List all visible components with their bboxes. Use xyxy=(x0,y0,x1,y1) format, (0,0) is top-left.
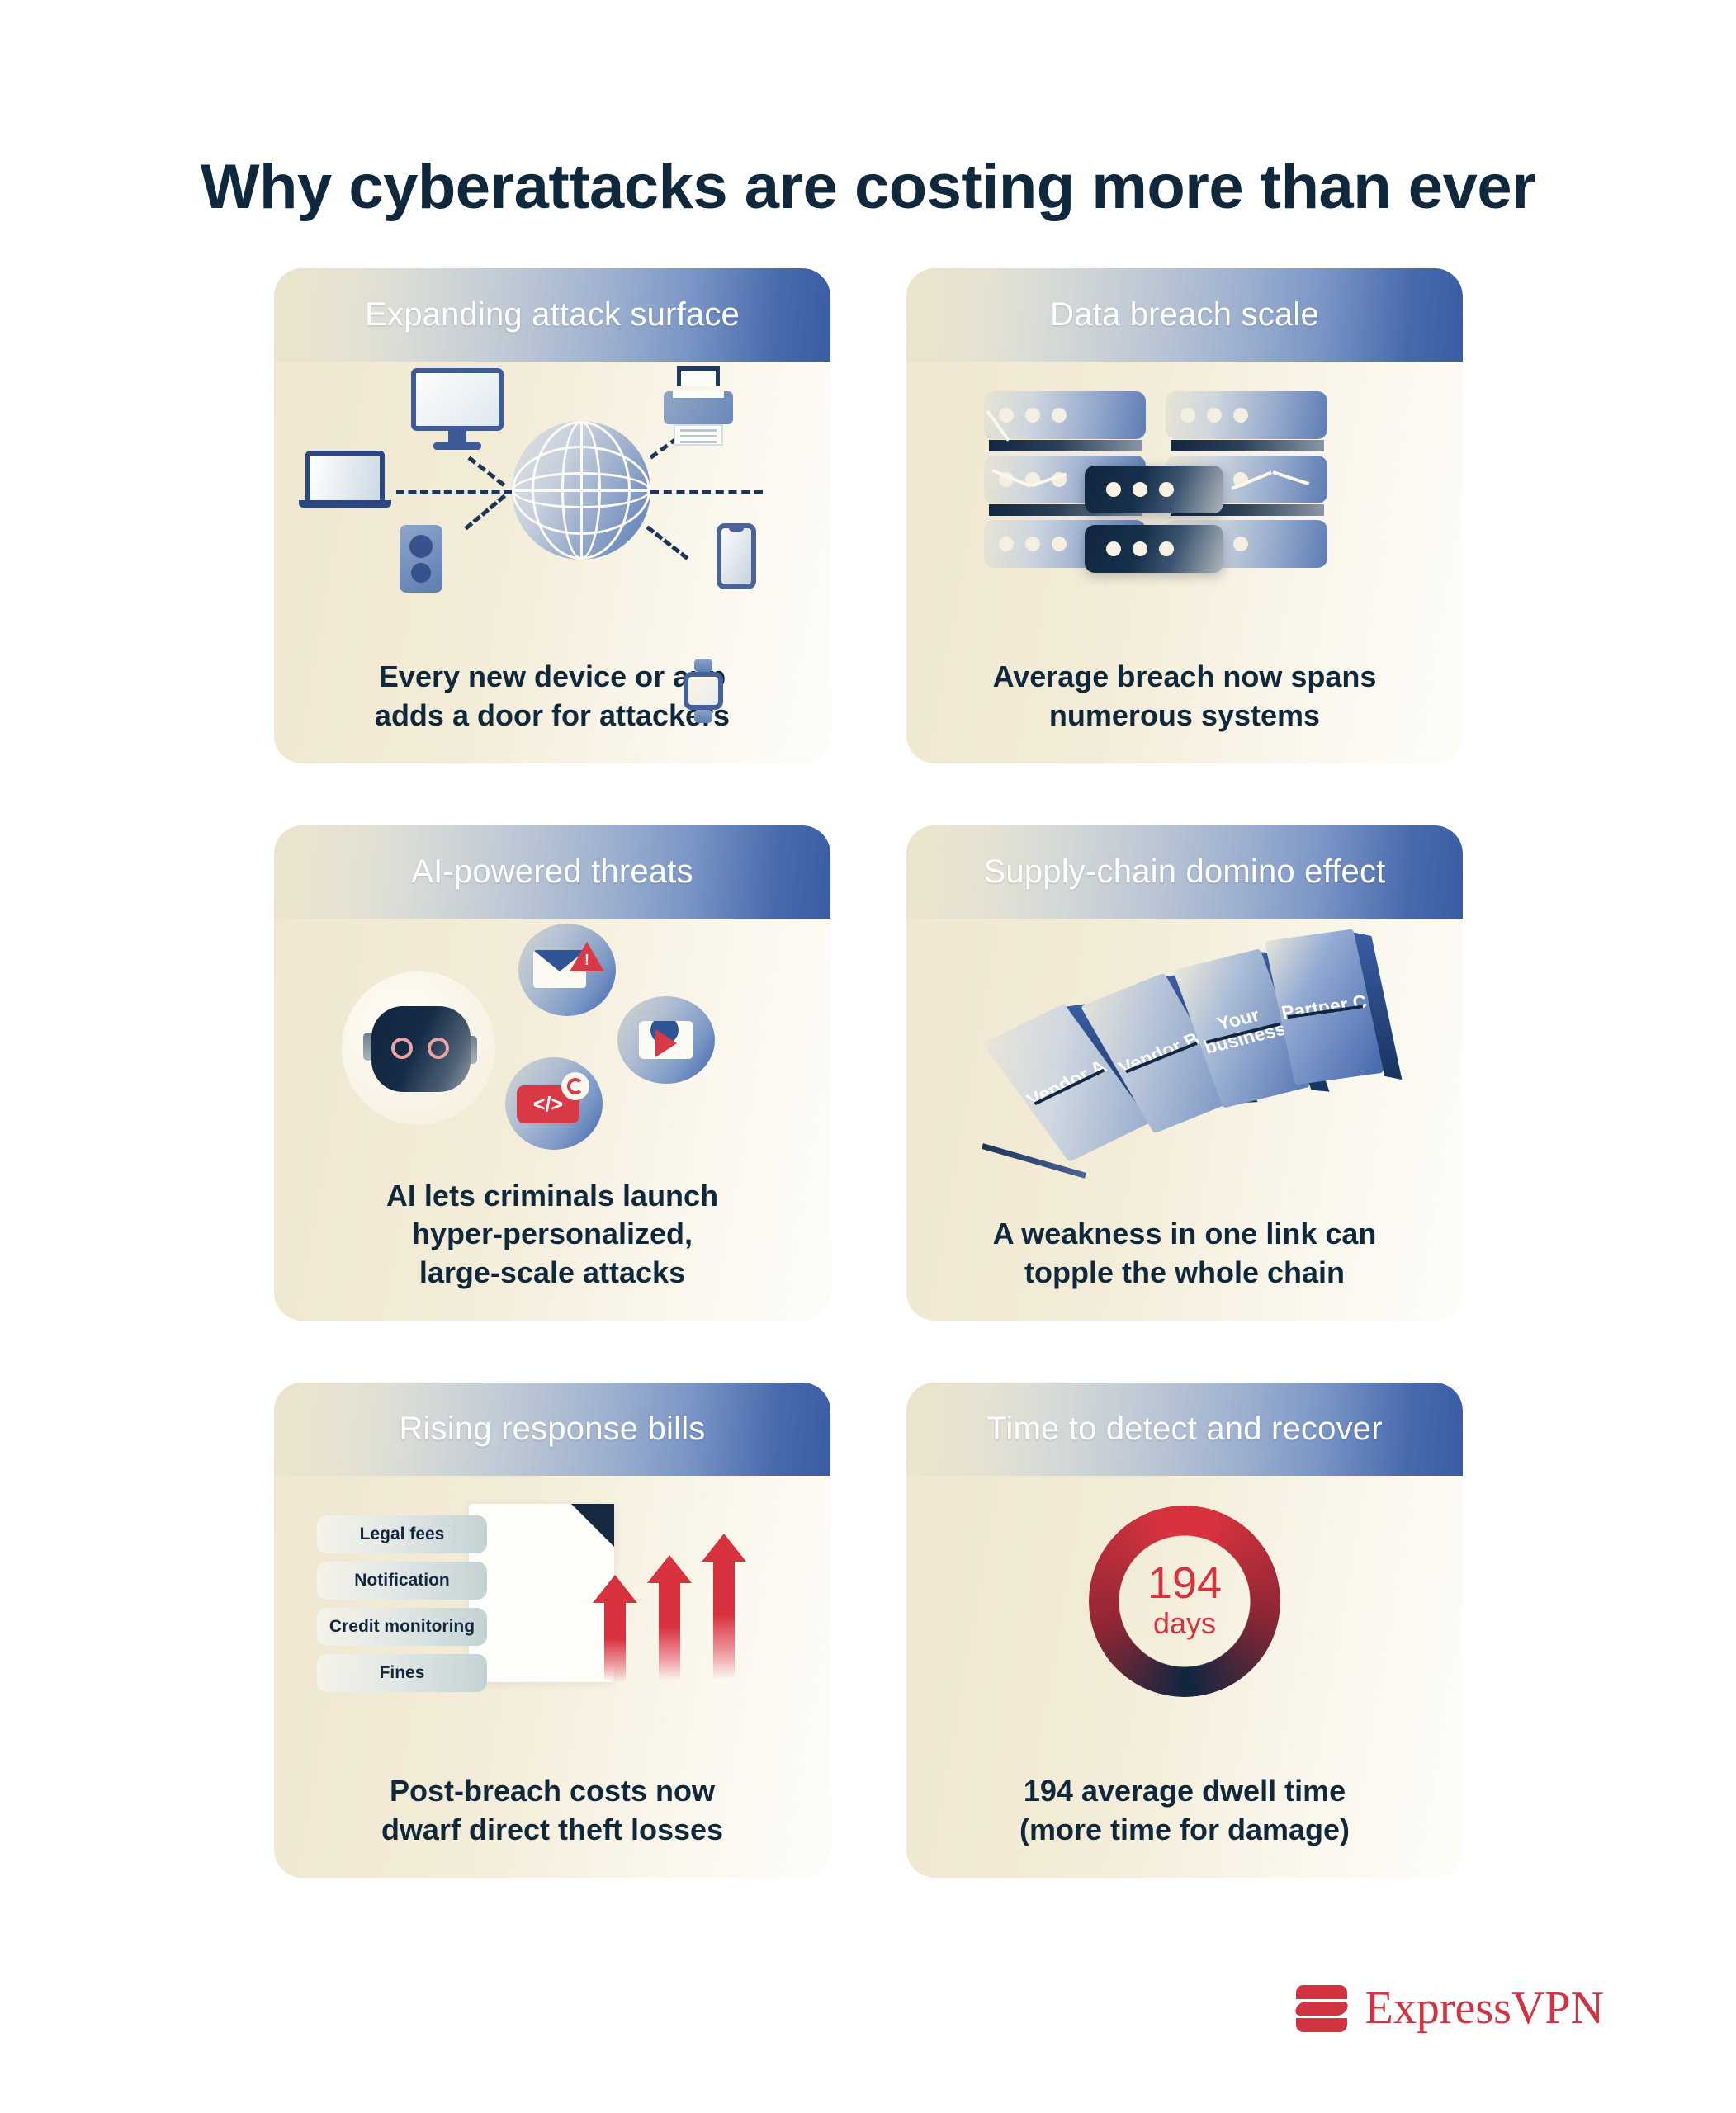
compromised-server xyxy=(1085,466,1223,513)
server-rack xyxy=(984,391,1146,439)
card-caption: A weakness in one link can topple the wh… xyxy=(906,1215,1463,1293)
smartwatch-icon xyxy=(684,672,723,710)
card-caption: Every new device or app adds a door for … xyxy=(274,658,830,735)
rack-shelf xyxy=(1171,440,1324,451)
cost-item-label: Notification xyxy=(354,1571,450,1591)
dwell-unit: days xyxy=(1153,1605,1216,1641)
card-header: Data breach scale xyxy=(906,268,1463,362)
connection-line xyxy=(646,526,688,560)
warning-triangle-icon: ! xyxy=(570,942,604,971)
video-player-icon xyxy=(639,1021,693,1059)
page-fold-icon xyxy=(571,1504,614,1547)
card-header: Time to detect and recover xyxy=(906,1383,1463,1476)
robot-head-icon xyxy=(371,1006,471,1092)
speaker-icon xyxy=(400,525,442,593)
cost-item-notification: Notification xyxy=(317,1562,487,1600)
rising-arrow-large xyxy=(702,1534,746,1679)
rising-arrow-medium xyxy=(647,1555,692,1680)
rising-arrow-small xyxy=(593,1575,637,1682)
card-caption: AI lets criminals launch hyper-personali… xyxy=(274,1177,830,1293)
rack-shelf xyxy=(989,440,1142,451)
cost-item-legal-fees: Legal fees xyxy=(317,1515,487,1553)
connection-line xyxy=(467,456,505,487)
card-supply-chain-domino: Supply-chain domino effect Vendor A Vend… xyxy=(906,825,1463,1321)
dwell-time-illustration: 194 days xyxy=(906,1476,1463,1772)
card-grid: Expanding attack surface xyxy=(274,268,1463,1878)
connection-line xyxy=(464,494,506,531)
phishing-bubble: ! xyxy=(518,924,616,1016)
malicious-code-bubble: </> xyxy=(505,1057,603,1150)
robot-eye xyxy=(428,1038,449,1059)
dwell-time-ring: 194 days xyxy=(1089,1506,1280,1697)
expressvpn-mark-icon xyxy=(1296,1983,1347,2034)
card-time-to-detect-recover: Time to detect and recover 194 days 194 … xyxy=(906,1383,1463,1878)
connection-line xyxy=(396,490,512,494)
card-header: AI-powered threats xyxy=(274,825,830,919)
monitor-icon xyxy=(411,368,504,450)
card-caption: Average breach now spans numerous system… xyxy=(906,658,1463,735)
cost-item-label: Legal fees xyxy=(360,1524,445,1544)
domino-label: Your business xyxy=(1194,1000,1289,1057)
refresh-icon xyxy=(561,1072,589,1100)
page-title: Why cyberattacks are costing more than e… xyxy=(0,151,1736,223)
card-header: Rising response bills xyxy=(274,1383,830,1476)
cost-item-label: Fines xyxy=(380,1663,425,1683)
card-data-breach-scale: Data breach scale xyxy=(906,268,1463,763)
card-caption: 194 average dwell time (more time for da… xyxy=(906,1772,1463,1850)
card-header: Expanding attack surface xyxy=(274,268,830,362)
deepfake-bubble xyxy=(617,996,715,1084)
cost-item-credit-monitoring: Credit monitoring xyxy=(317,1608,487,1646)
cost-item-fines: Fines xyxy=(317,1654,487,1692)
server-illustration xyxy=(906,362,1463,658)
network-illustration xyxy=(274,362,830,658)
brand-name: ExpressVPN xyxy=(1365,1982,1604,2035)
ring-center-label: 194 days xyxy=(1110,1527,1259,1676)
laptop-icon xyxy=(305,451,391,508)
globe-icon xyxy=(512,421,650,560)
card-rising-response-bills: Rising response bills Legal fees Notific… xyxy=(274,1383,830,1878)
compromised-server xyxy=(1085,525,1223,573)
server-rack xyxy=(1166,391,1327,439)
card-ai-powered-threats: AI-powered threats ! xyxy=(274,825,830,1321)
robot-eye xyxy=(391,1038,413,1059)
cost-item-label: Credit monitoring xyxy=(329,1617,475,1637)
card-caption: Post-breach costs now dwarf direct theft… xyxy=(274,1772,830,1850)
printer-icon xyxy=(664,366,733,446)
cost-illustration: Legal fees Notification Credit monitorin… xyxy=(274,1476,830,1772)
connection-line xyxy=(650,490,763,494)
card-expanding-attack-surface: Expanding attack surface xyxy=(274,268,830,763)
expressvpn-logo: ExpressVPN xyxy=(1296,1982,1604,2035)
domino-illustration: Vendor A Vendor B Your business Partner … xyxy=(906,919,1463,1215)
ai-threat-illustration: ! </> xyxy=(274,919,830,1177)
card-header: Supply-chain domino effect xyxy=(906,825,1463,919)
dwell-value: 194 xyxy=(1147,1561,1222,1605)
phone-icon xyxy=(717,523,756,589)
